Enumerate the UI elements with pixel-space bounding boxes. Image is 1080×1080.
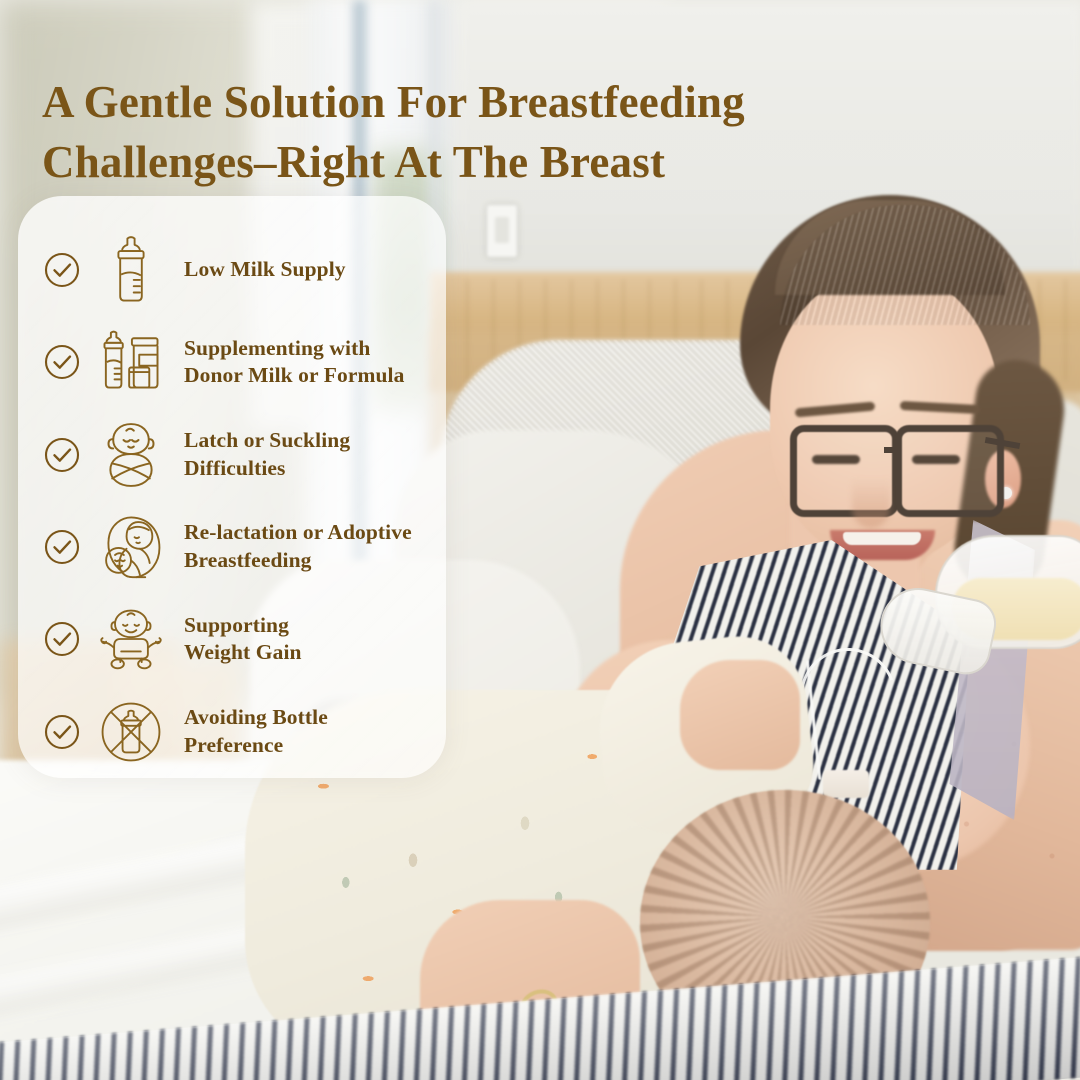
label-line-2: Weight Gain [184,640,302,664]
benefits-list: Low Milk Supply [18,196,446,778]
baby-bottle-icon [98,234,164,306]
bottle-and-formula-tin-icon [98,326,164,398]
page-title: A Gentle Solution For Breastfeeding Chal… [42,72,842,193]
label-line-2: Donor Milk or Formula [184,363,404,387]
label-line-1: Re-lactation or Adoptive [184,520,412,544]
no-bottle-icon [98,696,164,768]
label-line-1: Avoiding Bottle [184,705,328,729]
mother-holding-baby-icon [98,511,164,583]
check-circle-icon [42,527,82,567]
check-circle-icon [42,342,82,382]
headline-line-1: A Gentle Solution For Breastfeeding [42,72,842,132]
swaddled-baby-icon [98,419,164,491]
check-circle-icon [42,250,82,290]
label-line-1: Latch or Suckling [184,428,350,452]
headline-line-2: Challenges–Right At The Breast [42,132,842,192]
list-item-label: Supporting Weight Gain [184,612,302,668]
label-line-1: Low Milk Supply [184,257,346,281]
label-line-2: Breastfeeding [184,548,312,572]
check-circle-icon [42,619,82,659]
label-line-1: Supplementing with [184,336,370,360]
list-item-label: Re-lactation or Adoptive Breastfeeding [184,519,412,575]
list-item-label: Low Milk Supply [184,256,346,284]
check-circle-icon [42,712,82,752]
list-item[interactable]: Avoiding Bottle Preference [18,686,446,778]
sitting-happy-baby-icon [98,603,164,675]
label-line-2: Difficulties [184,456,286,480]
list-item[interactable]: Supplementing with Donor Milk or Formula [18,316,446,408]
list-item-label: Latch or Suckling Difficulties [184,427,350,483]
list-item-label: Supplementing with Donor Milk or Formula [184,335,404,391]
list-item[interactable]: Latch or Suckling Difficulties [18,409,446,501]
check-circle-icon [42,435,82,475]
list-item-label: Avoiding Bottle Preference [184,704,328,760]
infographic-canvas: A Gentle Solution For Breastfeeding Chal… [0,0,1080,1080]
label-line-1: Supporting [184,613,289,637]
list-item[interactable]: Re-lactation or Adoptive Breastfeeding [18,501,446,593]
list-item[interactable]: Supporting Weight Gain [18,593,446,685]
label-line-2: Preference [184,733,283,757]
list-item[interactable]: Low Milk Supply [18,224,446,316]
